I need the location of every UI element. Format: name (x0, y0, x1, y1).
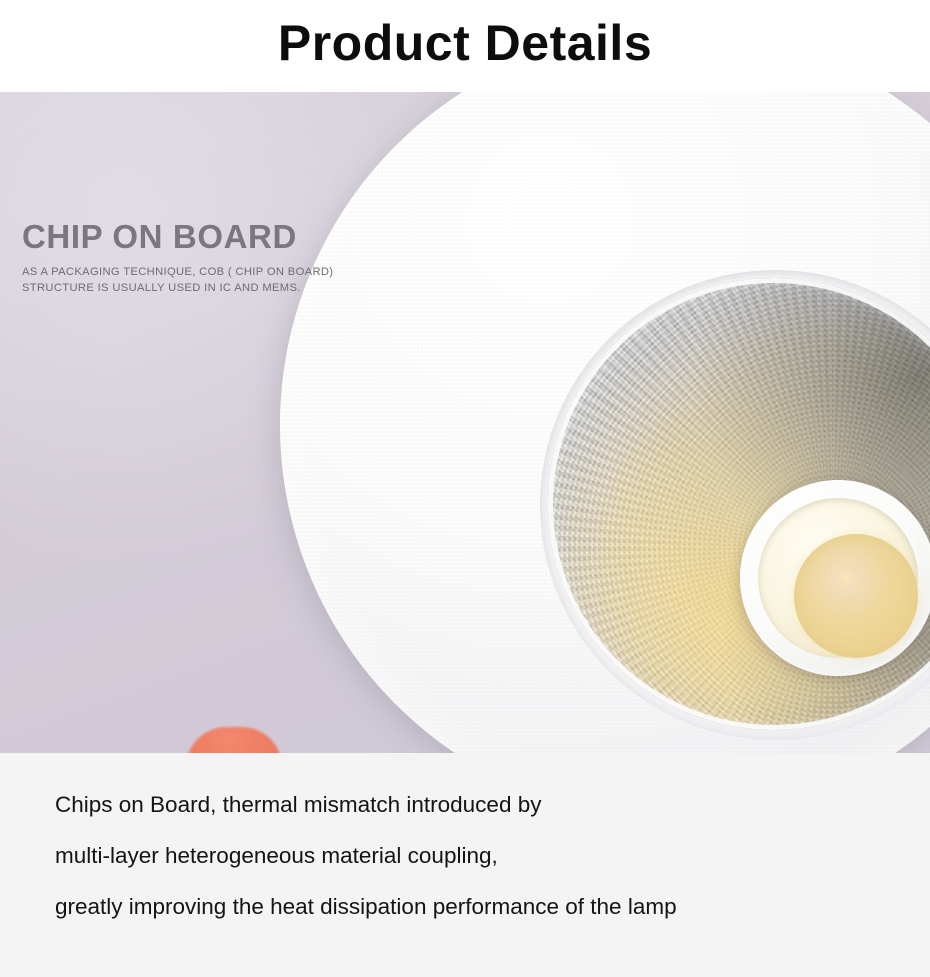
caption-line: Chips on Board, thermal mismatch introdu… (55, 779, 900, 830)
cob-led-ring (758, 498, 918, 658)
caption-line: multi-layer heterogeneous material coupl… (55, 830, 900, 881)
page-title: Product Details (278, 18, 652, 74)
cob-led-module (740, 480, 930, 676)
overlay-subtitle-line-1: AS A PACKAGING TECHNIQUE, COB ( CHIP ON … (22, 264, 422, 280)
cob-led-chip (794, 534, 918, 658)
overlay-subtitle-line-2: STRUCTURE IS USUALLY USED IN IC AND MEMS… (22, 280, 422, 296)
photo-overlay-text: CHIP ON BOARD AS A PACKAGING TECHNIQUE, … (22, 220, 422, 296)
caption-line: greatly improving the heat dissipation p… (55, 881, 900, 932)
page-header: Product Details (0, 0, 930, 92)
caption-text: Chips on Board, thermal mismatch introdu… (55, 779, 900, 932)
caption-block: Chips on Board, thermal mismatch introdu… (0, 753, 930, 977)
product-details-page: Product Details CHIP ON BOARD AS A PACKA… (0, 0, 930, 977)
product-photo: CHIP ON BOARD AS A PACKAGING TECHNIQUE, … (0, 92, 930, 753)
coral-prop-object (186, 727, 282, 753)
overlay-heading: CHIP ON BOARD (22, 220, 422, 253)
